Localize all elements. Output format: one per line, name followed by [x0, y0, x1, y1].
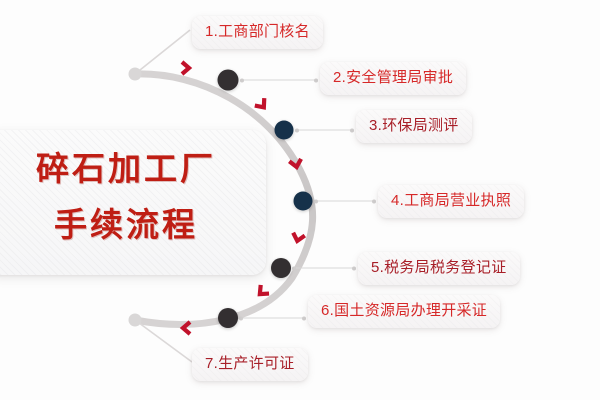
flow-node-4[interactable] [294, 192, 313, 211]
connector-dot-end [352, 266, 356, 270]
flow-node-7[interactable] [129, 314, 142, 327]
connector-dot-end [350, 128, 354, 132]
flow-node-3[interactable] [275, 121, 294, 140]
chevron-arrow-icon [284, 152, 308, 176]
connector-4 [316, 201, 375, 202]
step-label-3[interactable]: 3.环保局测评 [356, 110, 472, 143]
step-label-2[interactable]: 2.安全管理局审批 [320, 62, 466, 95]
chevron-arrow-icon [176, 318, 196, 338]
connector-2 [242, 80, 317, 81]
connector-6 [241, 318, 304, 319]
connector-dot-start [314, 199, 318, 203]
flow-node-1[interactable] [129, 68, 142, 81]
title-line-2: 手续流程 [0, 208, 266, 241]
connector-dot-end [372, 199, 376, 203]
flowchart-canvas: 碎石加工厂 手续流程 1.工商部门核名2.安全管理局审批3.环保局测评4.工商局… [0, 0, 600, 400]
flow-node-6[interactable] [218, 308, 238, 328]
title-card: 碎石加工厂 手续流程 [0, 130, 266, 275]
connector-5 [294, 268, 354, 269]
connector-3 [297, 130, 353, 131]
connector-dot-end [314, 78, 318, 82]
step-label-5[interactable]: 5.税务局税务登记证 [358, 252, 520, 285]
step-label-1[interactable]: 1.工商部门核名 [192, 16, 323, 49]
step-label-4[interactable]: 4.工商局营业执照 [378, 185, 524, 218]
title-line-1: 碎石加工厂 [0, 152, 266, 185]
step-label-6[interactable]: 6.国土资源局办理开采证 [308, 295, 500, 328]
connector-dot-end [302, 316, 306, 320]
step-label-7[interactable]: 7.生产许可证 [192, 348, 308, 381]
connector-dot-start [292, 266, 296, 270]
connector-dot-start [239, 316, 243, 320]
flow-node-5[interactable] [271, 258, 291, 278]
connector-dot-start [240, 78, 244, 82]
flow-node-2[interactable] [218, 70, 239, 91]
connector-dot-start [295, 128, 299, 132]
chevron-arrow-icon [176, 58, 196, 78]
